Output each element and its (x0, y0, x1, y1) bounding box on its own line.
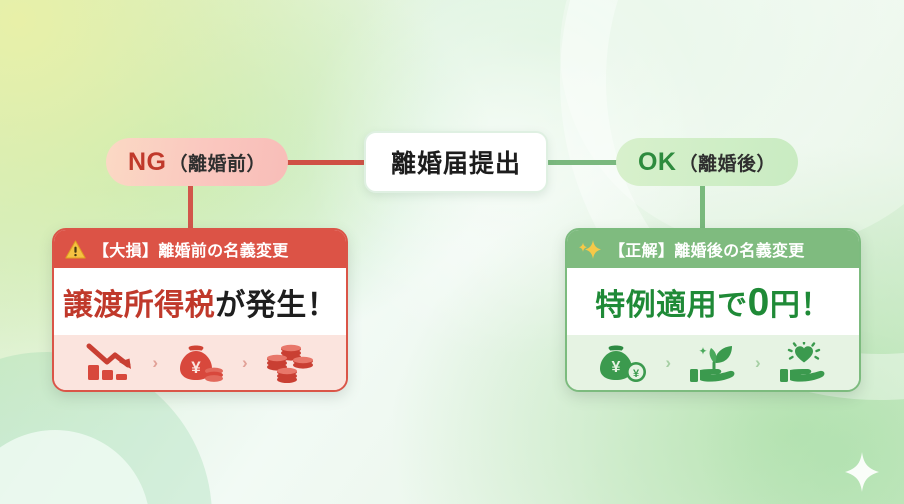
ng-icon-separator-2: › (242, 354, 248, 371)
ok-headline: 特例適用で0円！ (595, 280, 831, 324)
ng-card-body: 譲渡所得税が発生！ (54, 268, 346, 335)
ok-outcome-card[interactable]: 【正解】離婚後の名義変更 特例適用で0円！ ¥ ¥ › (565, 228, 861, 392)
ng-badge-note: （離婚前） (168, 149, 266, 176)
ng-headline-primary: 譲渡所得税 (63, 289, 216, 322)
svg-text:¥: ¥ (191, 358, 201, 377)
ok-headline-secondary: 円！ (770, 289, 831, 322)
ok-icon-separator-1: › (665, 354, 671, 371)
coin-stacks-icon (261, 341, 319, 385)
background-blob-bottom-left-inner (0, 430, 150, 504)
ng-card-header: 【大損】離婚前の名義変更 (54, 230, 346, 268)
ok-branch-pill[interactable]: OK （離婚後） (616, 138, 798, 186)
ok-headline-zero: 0 (748, 281, 770, 324)
declining-bar-chart-icon (81, 341, 139, 385)
hand-sprout-icon (684, 341, 742, 385)
ng-card-header-label: 【大損】離婚前の名義変更 (93, 237, 289, 261)
four-point-star-icon (845, 452, 879, 492)
money-bag-yen-icon: ¥ (171, 341, 229, 385)
ng-headline-secondary: が発生！ (215, 289, 337, 322)
ok-headline-primary: 特例適用で (595, 289, 748, 322)
center-node-label: 離婚届提出 (391, 144, 521, 180)
ok-card-header: 【正解】離婚後の名義変更 (567, 230, 859, 268)
ng-outcome-card[interactable]: 【大損】離婚前の名義変更 譲渡所得税が発生！ › ¥ (52, 228, 348, 392)
hand-heart-icon (774, 341, 832, 385)
infographic-canvas: NG （離婚前） OK （離婚後） 離婚届提出 【大損】離婚前の名義変更 譲渡所… (0, 0, 904, 504)
ok-icon-row: ¥ ¥ › › (567, 335, 859, 390)
ng-icon-row: › ¥ › (54, 335, 346, 390)
ok-icon-separator-2: › (755, 354, 761, 371)
ok-badge-note: （離婚後） (678, 149, 776, 176)
sparkles-icon (578, 239, 602, 260)
warning-triangle-icon (65, 240, 86, 259)
background-blob-top-right (560, 0, 904, 250)
svg-text:¥: ¥ (633, 368, 640, 380)
ng-icon-separator-1: › (152, 354, 158, 371)
money-bag-yen-coin-icon: ¥ ¥ (594, 341, 652, 385)
ok-badge-label: OK (638, 148, 677, 177)
ng-headline: 譲渡所得税が発生！ (63, 280, 338, 324)
ok-card-body: 特例適用で0円！ (567, 268, 859, 335)
ng-badge-label: NG (128, 148, 167, 177)
center-node-divorce-filing[interactable]: 離婚届提出 (364, 131, 548, 193)
ok-card-header-label: 【正解】離婚後の名義変更 (609, 237, 805, 261)
ng-branch-pill[interactable]: NG （離婚前） (106, 138, 288, 186)
svg-text:¥: ¥ (612, 359, 621, 376)
